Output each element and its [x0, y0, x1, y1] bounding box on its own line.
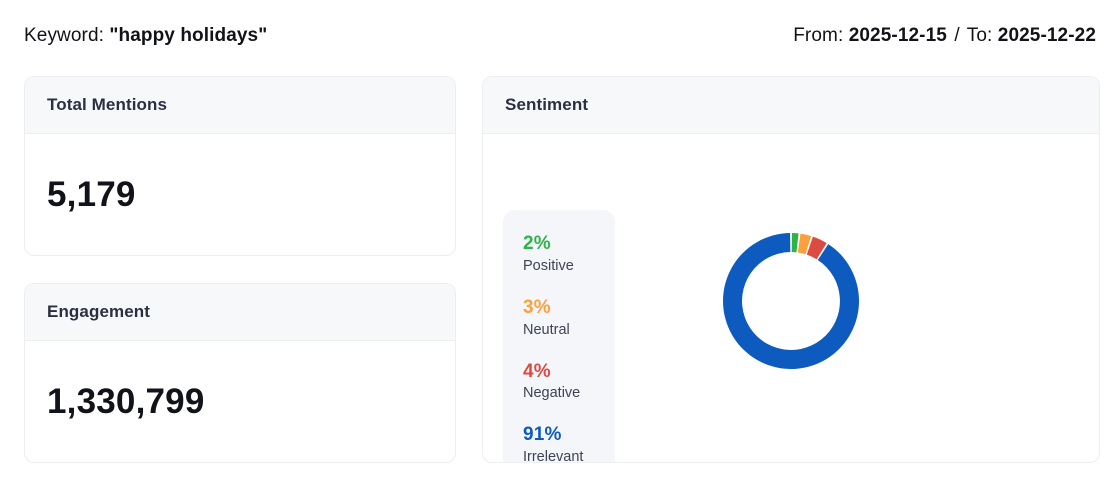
donut-slice-positive	[792, 233, 799, 252]
card-total-mentions-body: 5,179	[25, 134, 455, 256]
card-engagement-title: Engagement	[47, 302, 150, 322]
date-range-summary: From: 2025-12-15 / To: 2025-12-22	[793, 25, 1096, 47]
donut-slice-irrelevant	[723, 233, 859, 369]
legend-item-positive: 2%Positive	[523, 232, 615, 277]
dashboard-header: Keyword: "happy holidays" From: 2025-12-…	[0, 0, 1120, 72]
sentiment-legend: 2%Positive3%Neutral4%Negative91%Irreleva…	[503, 210, 615, 463]
sentiment-donut-chart	[661, 171, 921, 431]
total-mentions-value: 5,179	[47, 175, 136, 215]
legend-label-neutral: Neutral	[523, 320, 615, 341]
card-total-mentions-title: Total Mentions	[47, 95, 167, 115]
card-engagement-body: 1,330,799	[25, 341, 455, 463]
legend-percent-irrelevant: 91%	[523, 423, 615, 447]
legend-item-irrelevant: 91%Irrelevant	[523, 423, 615, 463]
legend-item-neutral: 3%Neutral	[523, 296, 615, 341]
card-sentiment: Sentiment 2%Positive3%Neutral4%Negative9…	[482, 76, 1100, 463]
date-to-value: 2025-12-22	[998, 25, 1096, 46]
legend-item-negative: 4%Negative	[523, 360, 615, 405]
dashboard-page: Keyword: "happy holidays" From: 2025-12-…	[0, 0, 1120, 484]
legend-label-negative: Negative	[523, 383, 615, 404]
card-engagement: Engagement 1,330,799	[24, 283, 456, 463]
legend-percent-positive: 2%	[523, 232, 615, 256]
legend-percent-neutral: 3%	[523, 296, 615, 320]
keyword-value: "happy holidays"	[109, 25, 267, 46]
date-from-value: 2025-12-15	[849, 25, 947, 46]
card-sentiment-header: Sentiment	[483, 77, 1099, 134]
donut-svg	[661, 171, 921, 431]
card-sentiment-body: 2%Positive3%Neutral4%Negative91%Irreleva…	[483, 134, 1099, 463]
date-range-separator: /	[952, 25, 961, 46]
legend-label-positive: Positive	[523, 256, 615, 277]
card-total-mentions: Total Mentions 5,179	[24, 76, 456, 256]
keyword-summary: Keyword: "happy holidays"	[24, 25, 267, 47]
card-sentiment-title: Sentiment	[505, 95, 588, 115]
card-engagement-header: Engagement	[25, 284, 455, 341]
card-total-mentions-header: Total Mentions	[25, 77, 455, 134]
legend-percent-negative: 4%	[523, 360, 615, 384]
keyword-label: Keyword:	[24, 25, 104, 46]
engagement-value: 1,330,799	[47, 382, 205, 422]
legend-label-irrelevant: Irrelevant	[523, 447, 615, 463]
date-from-label: From:	[793, 25, 843, 46]
date-to-label: To:	[967, 25, 993, 46]
